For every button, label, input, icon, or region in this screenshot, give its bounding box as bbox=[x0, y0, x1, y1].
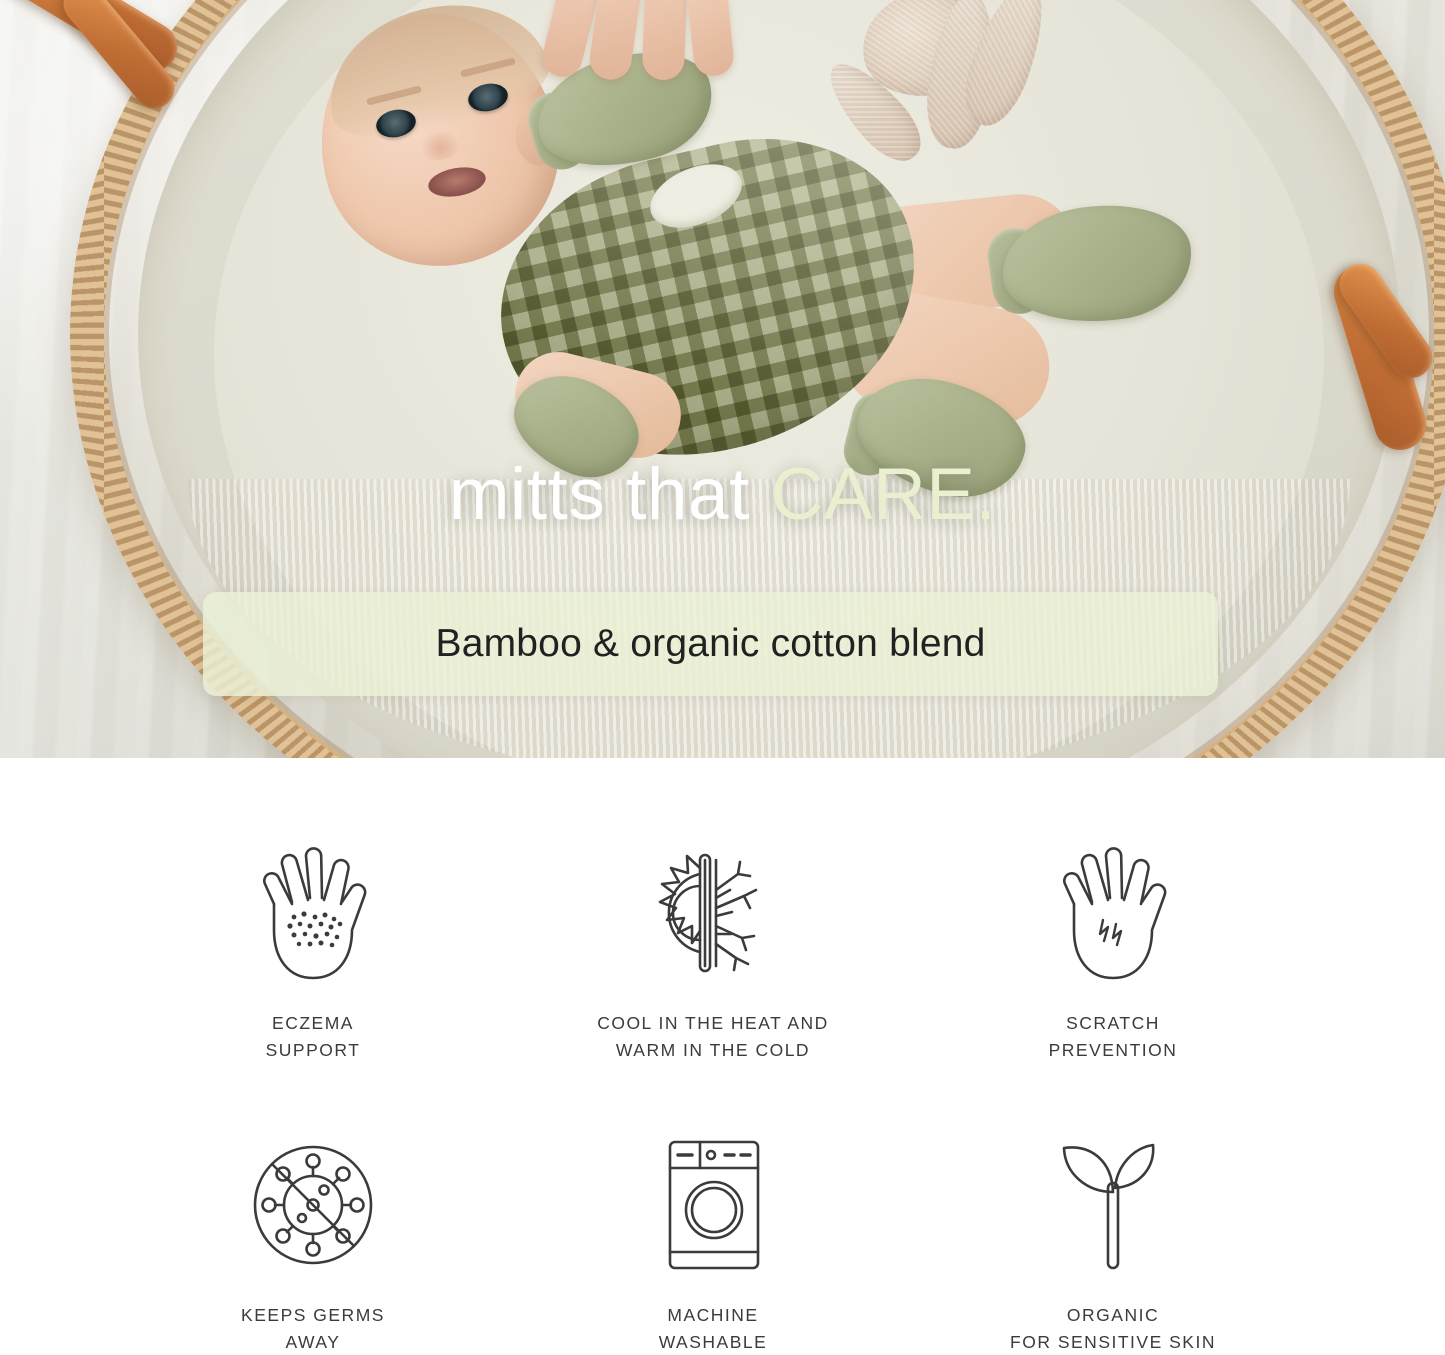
feature-caption-line2: SUPPORT bbox=[266, 1037, 361, 1064]
adult-finger-3 bbox=[642, 0, 688, 81]
hero-title: mitts that CARE. bbox=[0, 458, 1445, 531]
feature-item-organic: ORGANIC FOR SENSITIVE SKIN bbox=[933, 1130, 1293, 1355]
feature-caption: COOL IN THE HEAT AND WARM IN THE COLD bbox=[597, 1010, 829, 1063]
feature-caption-line2: WASHABLE bbox=[659, 1329, 768, 1355]
feature-caption: ORGANIC FOR SENSITIVE SKIN bbox=[1010, 1302, 1216, 1355]
sun-snowflake-icon bbox=[638, 838, 788, 988]
feature-caption-line1: ECZEMA bbox=[272, 1013, 354, 1033]
washing-machine-icon bbox=[648, 1130, 778, 1280]
feature-item-eczema-support: ECZEMA SUPPORT bbox=[133, 838, 493, 1063]
feature-caption-line2: PREVENTION bbox=[1049, 1037, 1178, 1064]
feature-caption-line2: WARM IN THE COLD bbox=[597, 1037, 829, 1064]
adult-finger-4 bbox=[685, 0, 736, 78]
hero-banner-section: mitts that CARE. Bamboo & organic cotton… bbox=[0, 0, 1445, 758]
feature-caption-line2: FOR SENSITIVE SKIN bbox=[1010, 1329, 1216, 1355]
feature-caption-line2: AWAY bbox=[241, 1329, 385, 1355]
feature-caption-line1: MACHINE bbox=[667, 1305, 758, 1325]
feature-caption: SCRATCH PREVENTION bbox=[1049, 1010, 1178, 1063]
adult-finger-2 bbox=[587, 0, 647, 82]
feature-caption: KEEPS GERMS AWAY bbox=[241, 1302, 385, 1355]
product-feature-page: mitts that CARE. Bamboo & organic cotton… bbox=[0, 0, 1445, 1346]
hand-with-dots-icon bbox=[248, 838, 378, 988]
feature-caption-line1: SCRATCH bbox=[1066, 1013, 1160, 1033]
feature-caption: MACHINE WASHABLE bbox=[659, 1302, 768, 1355]
hero-subtitle-text: Bamboo & organic cotton blend bbox=[436, 622, 986, 666]
feature-item-machine-washable: MACHINE WASHABLE bbox=[533, 1130, 893, 1355]
feature-item-scratch-prevention: SCRATCH PREVENTION bbox=[933, 838, 1293, 1063]
feature-caption-line1: KEEPS GERMS bbox=[241, 1305, 385, 1325]
sprout-leaf-icon bbox=[1043, 1130, 1183, 1280]
feature-item-keeps-germs-away: KEEPS GERMS AWAY bbox=[133, 1130, 493, 1355]
adult-hand bbox=[548, 0, 768, 90]
hand-with-scratches-icon bbox=[1048, 838, 1178, 988]
hero-title-primary: mitts that bbox=[449, 454, 771, 535]
feature-caption: ECZEMA SUPPORT bbox=[266, 1010, 361, 1063]
hero-subtitle-banner: Bamboo & organic cotton blend bbox=[203, 592, 1218, 696]
hero-title-accent: CARE. bbox=[771, 454, 997, 535]
feature-item-temperature-regulating: COOL IN THE HEAT AND WARM IN THE COLD bbox=[533, 838, 893, 1063]
no-germs-icon bbox=[238, 1130, 388, 1280]
features-section: ECZEMA SUPPORT bbox=[0, 758, 1445, 1346]
feature-caption-line1: COOL IN THE HEAT AND bbox=[597, 1013, 829, 1033]
feature-caption-line1: ORGANIC bbox=[1067, 1305, 1159, 1325]
